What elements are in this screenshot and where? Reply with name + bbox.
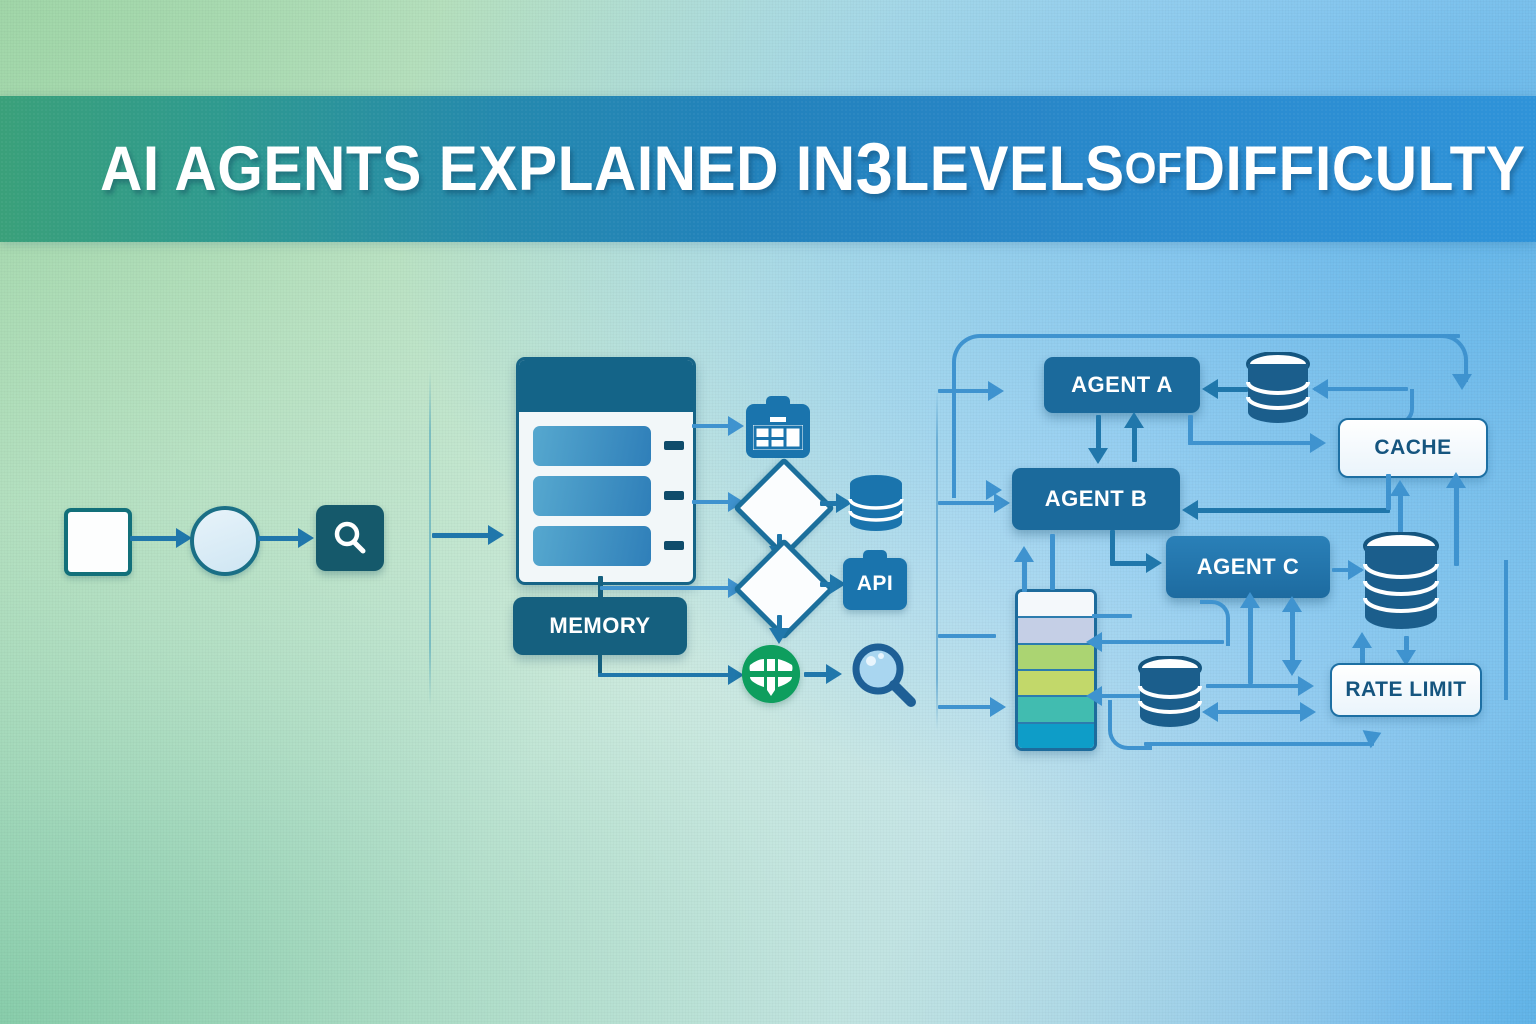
globe-to-glass-arrow [826,664,842,684]
into-db3-arrow [1352,632,1372,648]
a-to-cache-arrow [1310,433,1326,453]
search-icon [330,518,370,558]
db2-to-rl-line [1206,684,1302,688]
l3-feed-line-3 [938,634,996,638]
panel-row-tab [664,491,684,500]
cache-box: CACHE [1338,418,1488,478]
memory-label: MEMORY [549,613,650,639]
into-stack-arrow-1 [1086,632,1102,652]
into-cache-arrow-2 [1446,472,1466,488]
decision-diamond-icon [733,538,835,640]
calendar-grid-icon [742,394,814,462]
l3-loop-left-arrow [986,480,1002,500]
b-to-stack-line [1050,534,1055,590]
b-to-c-line [1110,530,1115,564]
l3-feed-line-4 [938,705,996,709]
square-node-icon [64,508,132,576]
b-to-a-arrow [1124,412,1144,428]
rate-limit-box: RATE LIMIT [1330,663,1482,717]
title-part-1: AI AGENTS EXPLAINED IN [100,133,856,205]
queue-segment [1018,697,1094,723]
memory-box: MEMORY [513,597,687,655]
cache-to-b-line [1196,508,1390,513]
title-part-3: LEVELS [893,133,1124,205]
rl-to-db2-arrow [1300,702,1316,722]
c-bidir-arrow-down [1282,660,1302,676]
rate-limit-label: RATE LIMIT [1345,678,1466,702]
into-cache-arrow-1 [1390,480,1410,496]
database-cylinder-icon [1362,532,1440,634]
rl-to-db2-line [1206,710,1304,714]
a-to-b-line [1096,415,1101,451]
title-part-of: OF [1125,144,1183,194]
cache-to-b-arrow [1182,500,1198,520]
stackzone-up-arrow [1240,592,1260,608]
l2-entry-arrow [488,525,504,545]
page-title: AI AGENTS EXPLAINED IN 3 LEVELS OF DIFFI… [100,96,1526,242]
agent-c-label: AGENT C [1197,554,1300,580]
l1-arrow-head-2 [298,528,314,548]
memory-branch-line [598,673,734,677]
l3-feed-arrow-4 [990,697,1006,717]
title-part-number: 3 [856,128,894,210]
queue-segment [1018,645,1094,671]
agent-panel [516,357,696,585]
into-stack-arrow-2 [1086,686,1102,706]
globe-icon [742,645,800,703]
api-box: API [843,558,907,610]
api-label: API [857,572,894,596]
db1-to-a-line [1216,387,1248,392]
cache-to-db1-arrow [1312,379,1328,399]
right-outer-curve [1470,560,1508,700]
magnifier-icon [849,640,919,710]
panel-branch-line-3 [600,586,734,590]
queue-segment [1018,618,1094,644]
panel-row [533,526,651,566]
agent-b-label: AGENT B [1045,486,1148,512]
queue-segment [1018,724,1094,748]
c-bidir-arrow-up [1282,596,1302,612]
stackzone-up-line [1248,600,1253,684]
l1-arrow-line-2 [258,536,302,541]
panel-row [533,426,651,466]
into-cache-line-2 [1454,480,1459,566]
stack-to-b-arrow [1014,546,1034,562]
db2-to-rl-arrow [1298,676,1314,696]
circle-node-icon [190,506,260,576]
b-to-c-arrow [1146,553,1162,573]
c-down-stack-curve [1200,600,1230,646]
stack-out-line-top [1092,614,1132,618]
agent-a-box: AGENT A [1044,357,1200,413]
panel-row-tab [664,541,684,550]
queue-segment [1018,592,1094,618]
l2-entry-line [432,533,492,538]
database-cylinder-icon [1246,352,1310,424]
panel-row [533,476,651,516]
cache-label: CACHE [1374,436,1451,460]
l3-loop-right-arrow [1452,374,1472,390]
a-to-cache-line-h [1188,441,1312,445]
panel-row-tab [664,441,684,450]
section-divider-1 [429,370,431,706]
poster-canvas: AI AGENTS EXPLAINED IN 3 LEVELS OF DIFFI… [0,0,1536,1024]
queue-stack [1015,589,1097,751]
title-part-5: DIFFICULTY [1183,133,1526,205]
queue-segment [1018,671,1094,697]
agent-c-box: AGENT C [1166,536,1330,598]
db1-to-a-arrow [1202,379,1218,399]
a-to-b-arrow [1088,448,1108,464]
l3-loop-top-line [1070,334,1460,338]
bottom-return-line [1144,742,1374,746]
database-cylinder-icon [848,473,904,533]
l1-arrow-line-1 [130,536,178,541]
section-divider-2 [936,390,938,730]
diamond2-down-arrow [769,628,789,644]
agent-a-label: AGENT A [1071,372,1173,398]
db2-back-arrow [1202,702,1218,722]
agent-b-box: AGENT B [1012,468,1180,530]
title-banner: AI AGENTS EXPLAINED IN 3 LEVELS OF DIFFI… [0,96,1536,242]
l3-feed-line-2 [938,501,1000,505]
c-to-db3-arrow [1348,560,1364,580]
search-tool-tile [316,505,384,571]
panel-header [519,360,693,412]
